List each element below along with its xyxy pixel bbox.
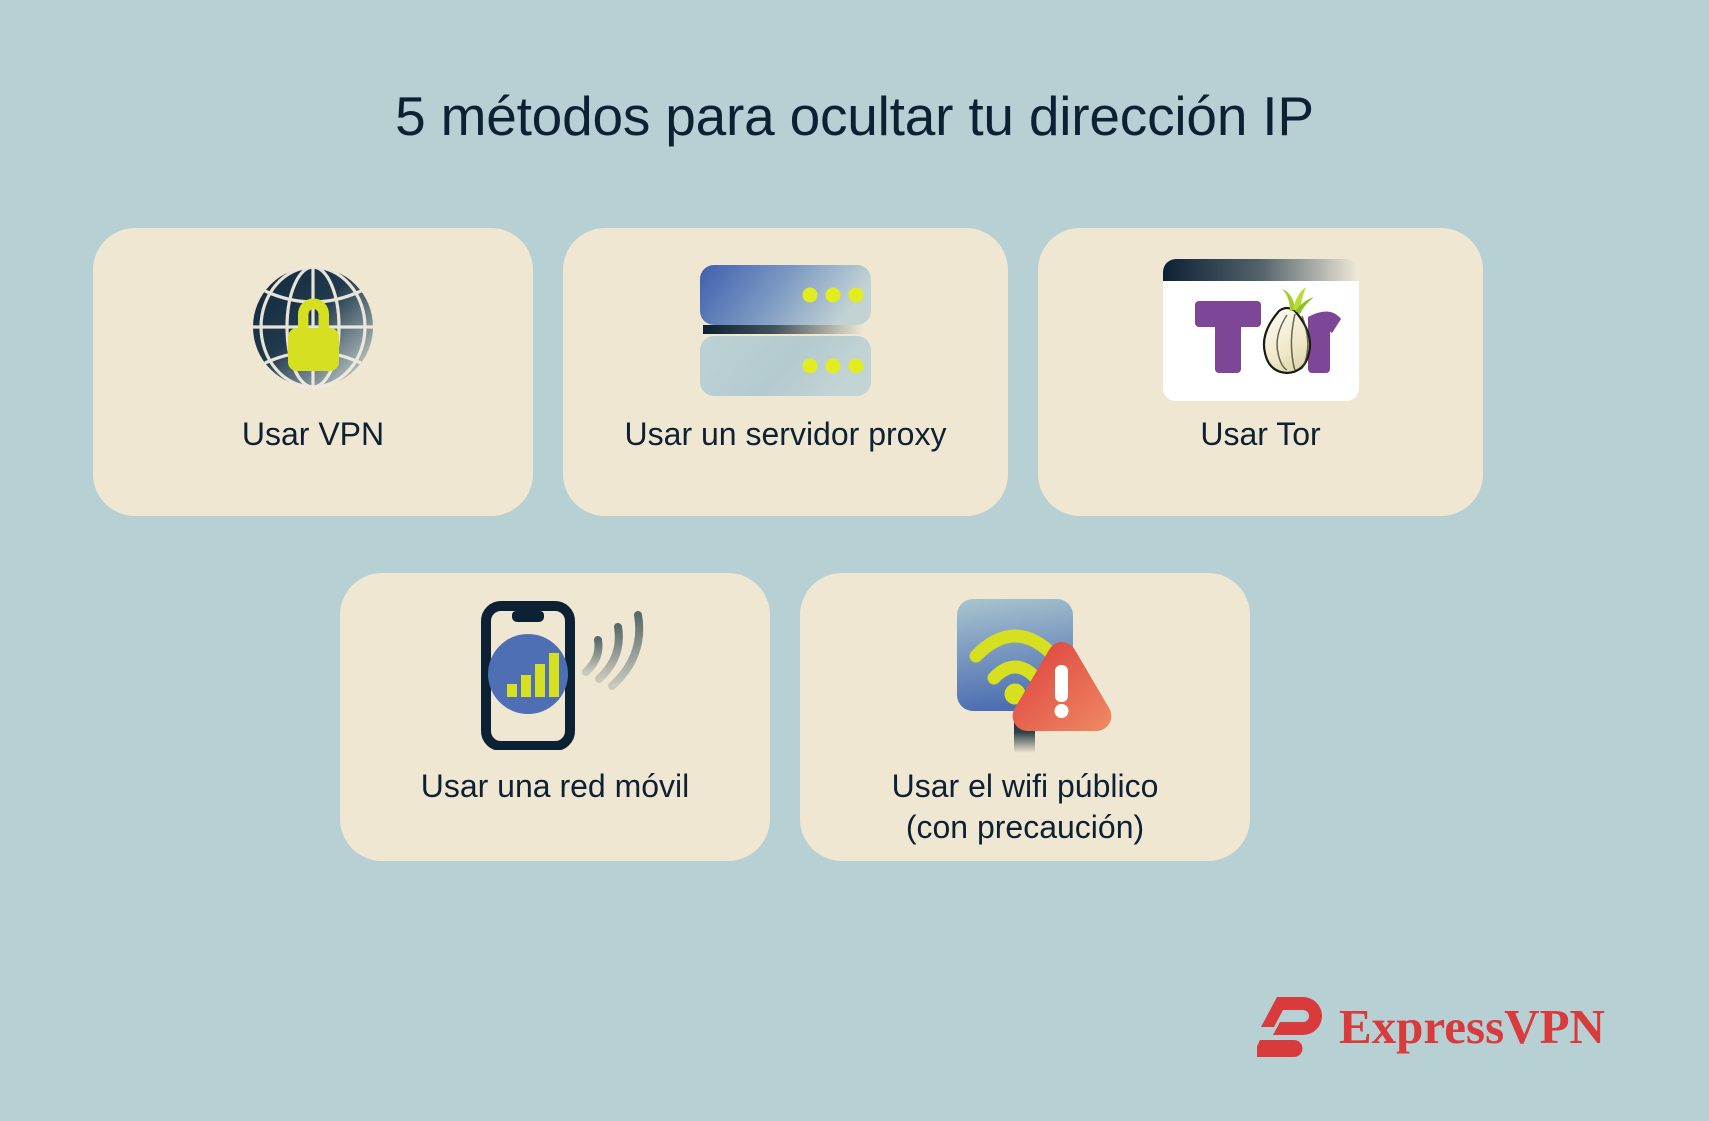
card-label-mobile: Usar una red móvil: [421, 766, 690, 807]
expressvpn-logo: ExpressVPN: [1257, 993, 1605, 1059]
card-usar-wifi-publico[interactable]: Usar el wifi público (con precaución): [800, 573, 1250, 861]
page-title: 5 métodos para ocultar tu dirección IP: [0, 84, 1709, 148]
globe-lock-icon: [93, 250, 533, 410]
card-label-wifi-line1: Usar el wifi público: [892, 768, 1159, 804]
tor-browser-icon: [1038, 250, 1483, 410]
card-label-tor: Usar Tor: [1200, 414, 1320, 455]
card-usar-red-movil[interactable]: Usar una red móvil: [340, 573, 770, 861]
card-usar-vpn[interactable]: Usar VPN: [93, 228, 533, 516]
server-stack-icon-svg: [698, 263, 873, 398]
expressvpn-e-mark-icon: [1257, 993, 1325, 1059]
globe-lock-icon-svg: [238, 255, 388, 405]
expressvpn-wordmark: ExpressVPN: [1339, 1002, 1605, 1051]
smartphone-signal-icon-svg: [460, 600, 650, 750]
card-usar-servidor-proxy[interactable]: Usar un servidor proxy: [563, 228, 1008, 516]
smartphone-signal-icon: [340, 587, 770, 762]
tor-browser-icon-svg: [1163, 259, 1359, 401]
server-stack-icon: [563, 250, 1008, 410]
public-wifi-warning-icon: [800, 587, 1250, 762]
card-label-wifi: Usar el wifi público (con precaución): [892, 766, 1159, 848]
public-wifi-warning-icon-svg: [925, 595, 1125, 755]
infographic-page: 5 métodos para ocultar tu dirección IP: [0, 0, 1709, 1121]
card-label-wifi-line2: (con precaución): [906, 809, 1144, 845]
card-usar-tor[interactable]: Usar Tor: [1038, 228, 1483, 516]
card-label-proxy: Usar un servidor proxy: [625, 414, 947, 455]
card-label-vpn: Usar VPN: [242, 414, 384, 455]
